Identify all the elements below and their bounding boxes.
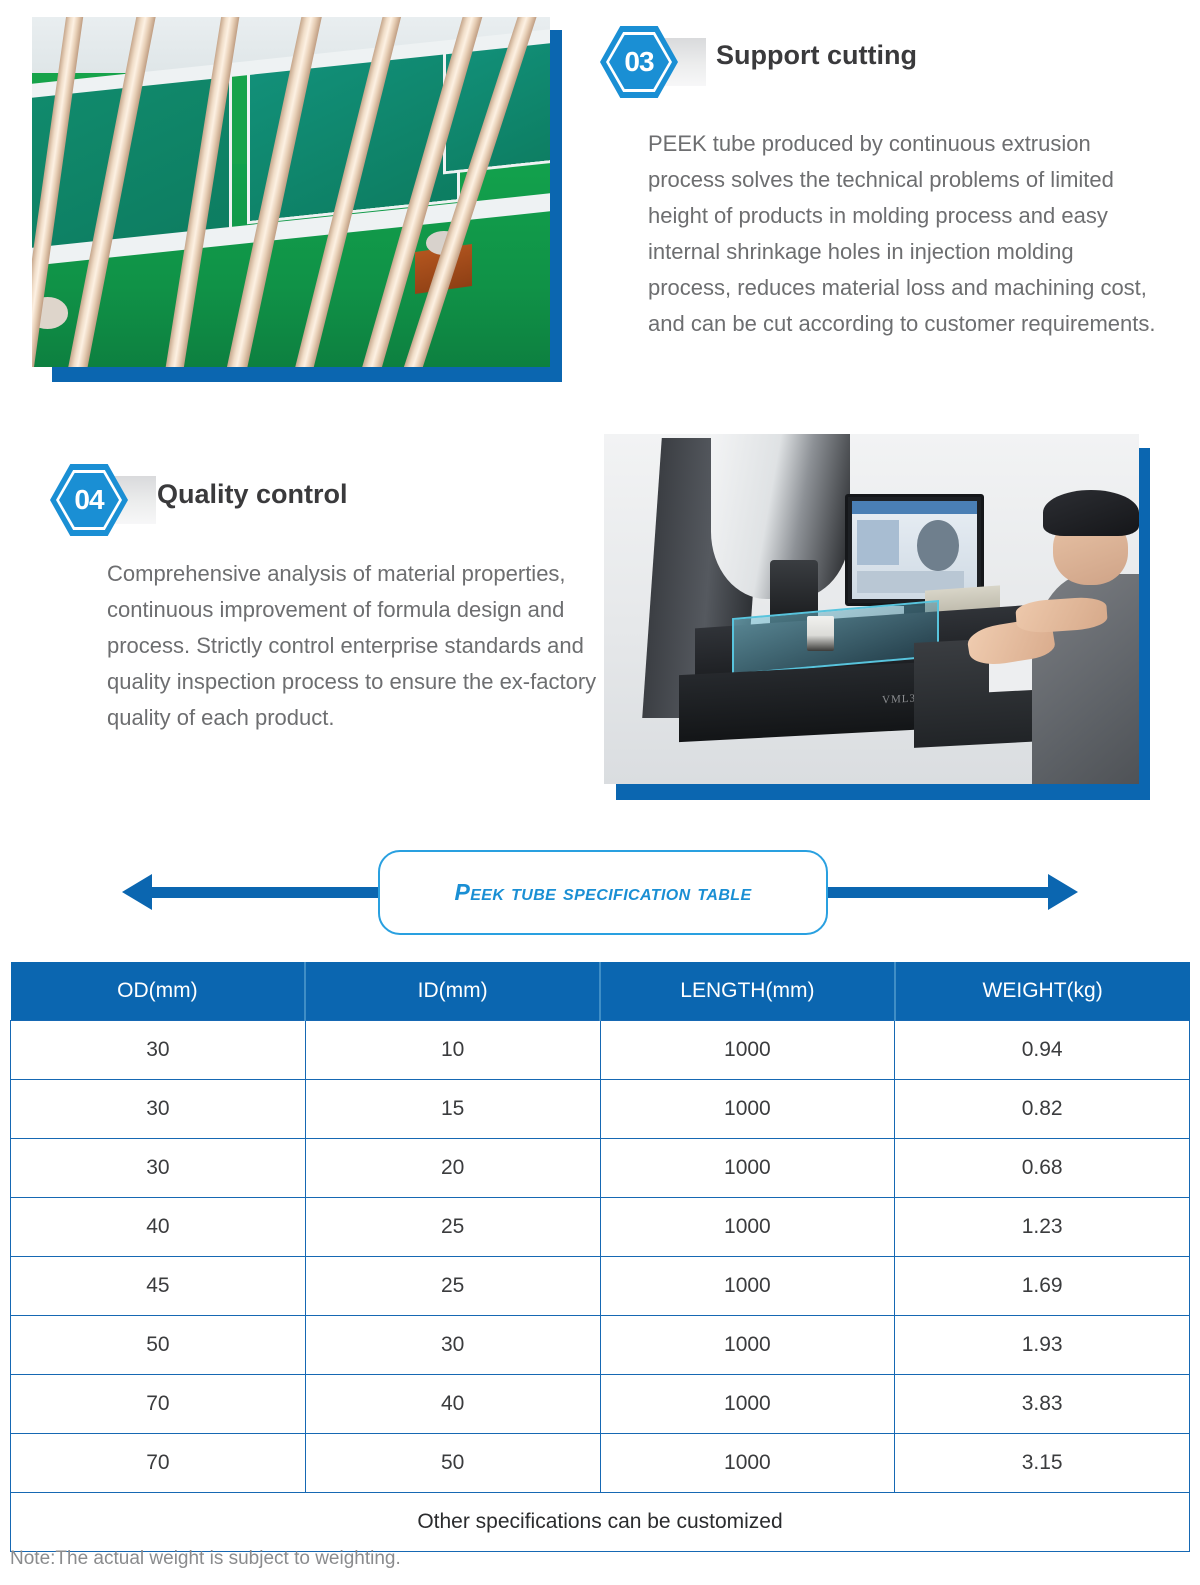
section-body-support-cutting: PEEK tube produced by continuous extrusi… (648, 126, 1160, 342)
cell-id: 20 (305, 1139, 600, 1198)
column-header-od: OD(mm) (11, 962, 306, 1021)
cell-weight: 1.93 (895, 1316, 1190, 1375)
column-header-weight: WEIGHT(kg) (895, 962, 1190, 1021)
cell-id: 10 (305, 1021, 600, 1080)
cell-od: 40 (11, 1198, 306, 1257)
section-body-quality-control: Comprehensive analysis of material prope… (107, 556, 597, 736)
cell-weight: 0.94 (895, 1021, 1190, 1080)
table-footer-row: Other specifications can be customized (11, 1493, 1190, 1552)
table-row: 50 30 1000 1.93 (11, 1316, 1190, 1375)
section-divider: Peek tube specification table (0, 845, 1200, 940)
cell-id: 25 (305, 1198, 600, 1257)
table-row: 30 20 1000 0.68 (11, 1139, 1190, 1198)
cell-length: 1000 (600, 1080, 895, 1139)
cell-id: 40 (305, 1375, 600, 1434)
section-title-support-cutting: Support cutting (716, 40, 917, 71)
cell-weight: 0.82 (895, 1080, 1190, 1139)
badge-section-03: 03 (600, 26, 678, 98)
cell-id: 15 (305, 1080, 600, 1139)
cell-length: 1000 (600, 1198, 895, 1257)
cell-od: 30 (11, 1021, 306, 1080)
table-row: 40 25 1000 1.23 (11, 1198, 1190, 1257)
cell-length: 1000 (600, 1257, 895, 1316)
badge-section-04: 04 (50, 464, 128, 536)
specification-table: OD(mm) ID(mm) LENGTH(mm) WEIGHT(kg) 30 1… (10, 962, 1190, 1552)
cell-id: 25 (305, 1257, 600, 1316)
cell-length: 1000 (600, 1434, 895, 1493)
table-header-row: OD(mm) ID(mm) LENGTH(mm) WEIGHT(kg) (11, 962, 1190, 1021)
cell-id: 30 (305, 1316, 600, 1375)
badge-number: 04 (74, 486, 103, 514)
cell-weight: 0.68 (895, 1139, 1190, 1198)
cell-od: 70 (11, 1375, 306, 1434)
arrow-left-icon (122, 874, 152, 910)
divider-title-box: Peek tube specification table (378, 850, 828, 935)
cell-od: 30 (11, 1080, 306, 1139)
photo2-screen-panel (857, 520, 900, 565)
cell-weight: 1.23 (895, 1198, 1190, 1257)
cell-weight: 1.69 (895, 1257, 1190, 1316)
table-row: 30 15 1000 0.82 (11, 1080, 1190, 1139)
cell-length: 1000 (600, 1021, 895, 1080)
table-row: 30 10 1000 0.94 (11, 1021, 1190, 1080)
table-row: 45 25 1000 1.69 (11, 1257, 1190, 1316)
table-row: 70 50 1000 3.15 (11, 1434, 1190, 1493)
cell-id: 50 (305, 1434, 600, 1493)
photo2-screen-toolbar (852, 501, 977, 515)
weight-note: Note:The actual weight is subject to wei… (10, 1548, 401, 1570)
cell-od: 70 (11, 1434, 306, 1493)
cell-length: 1000 (600, 1316, 895, 1375)
badge-number: 03 (624, 48, 653, 76)
column-header-id: ID(mm) (305, 962, 600, 1021)
photo-peek-rods (32, 17, 550, 367)
cell-length: 1000 (600, 1139, 895, 1198)
section-title-quality-control: Quality control (157, 479, 348, 510)
cell-od: 45 (11, 1257, 306, 1316)
table-row: 70 40 1000 3.83 (11, 1375, 1190, 1434)
photo2-operator-cap (1043, 490, 1139, 536)
photo2-screen (852, 501, 977, 599)
cell-length: 1000 (600, 1375, 895, 1434)
photo2-screen-measurement (917, 520, 960, 571)
divider-title: Peek tube specification table (454, 879, 751, 906)
table-footer-note: Other specifications can be customized (11, 1493, 1190, 1552)
column-header-length: LENGTH(mm) (600, 962, 895, 1021)
cell-weight: 3.15 (895, 1434, 1190, 1493)
arrow-right-icon (1048, 874, 1078, 910)
photo2-sample-part (807, 616, 834, 651)
cell-od: 50 (11, 1316, 306, 1375)
cell-weight: 3.83 (895, 1375, 1190, 1434)
photo-inspection: VML300 (604, 434, 1139, 784)
cell-od: 30 (11, 1139, 306, 1198)
